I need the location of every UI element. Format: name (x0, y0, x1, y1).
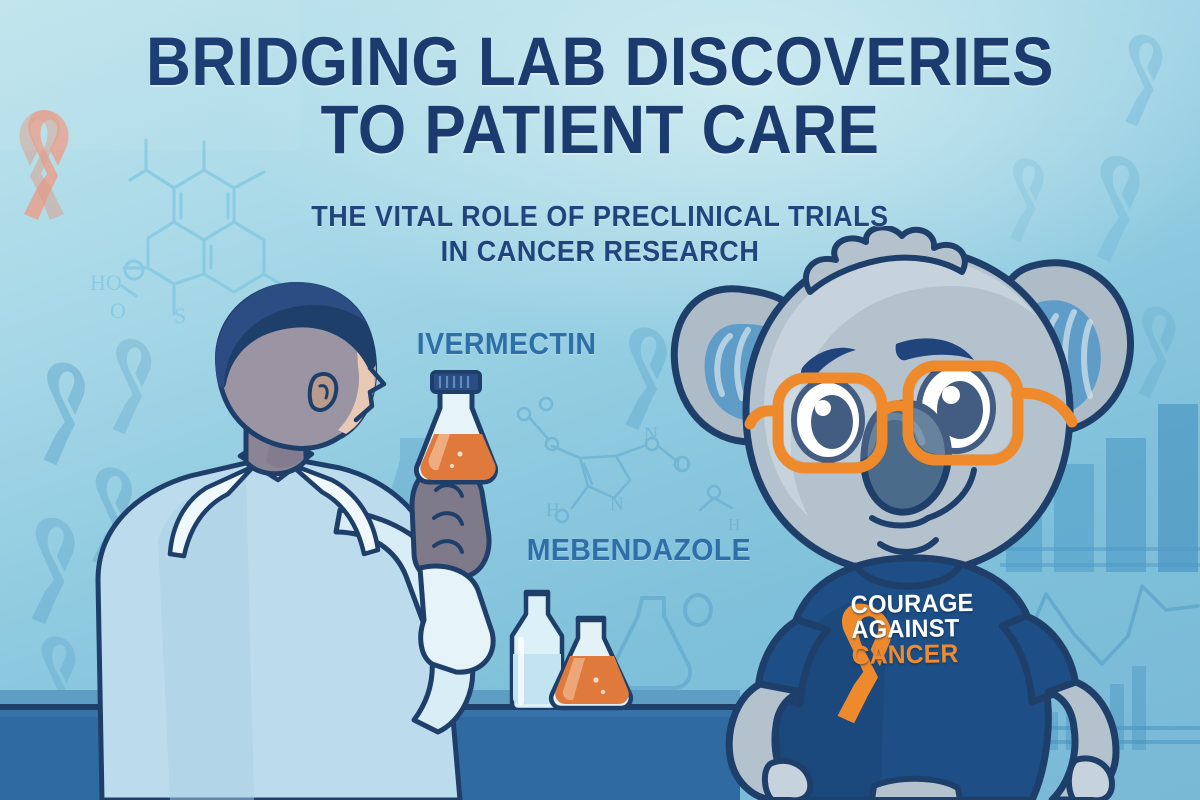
title-line-1: BRIDGING LAB DISCOVERIES (60, 28, 1140, 96)
drug-label-mebendazole: MEBENDAZOLE (527, 532, 751, 568)
held-flask (414, 370, 498, 502)
subtitle-line-1: THE VITAL ROLE OF PRECLINICAL TRIALS (42, 200, 1158, 235)
shirt-slogan: COURAGE AGAINST CANCER (847, 591, 977, 669)
chem-label-n1: N (644, 424, 658, 445)
koala-mascot (660, 226, 1160, 800)
bench-flask (546, 614, 638, 712)
page-subtitle: THE VITAL ROLE OF PRECLINICAL TRIALS IN … (0, 200, 1200, 271)
title-line-2: TO PATIENT CARE (60, 96, 1140, 164)
chem-label-n2: N (610, 494, 624, 515)
chem-label-h: H (546, 500, 560, 521)
poster-canvas: HO O S N N H O H (0, 0, 1200, 800)
shirt-line-3: CANCER (851, 641, 974, 669)
drug-label-ivermectin: IVERMECTIN (417, 326, 597, 362)
page-title: BRIDGING LAB DISCOVERIES TO PATIENT CARE (0, 28, 1200, 165)
subtitle-line-2: IN CANCER RESEARCH (42, 235, 1158, 270)
